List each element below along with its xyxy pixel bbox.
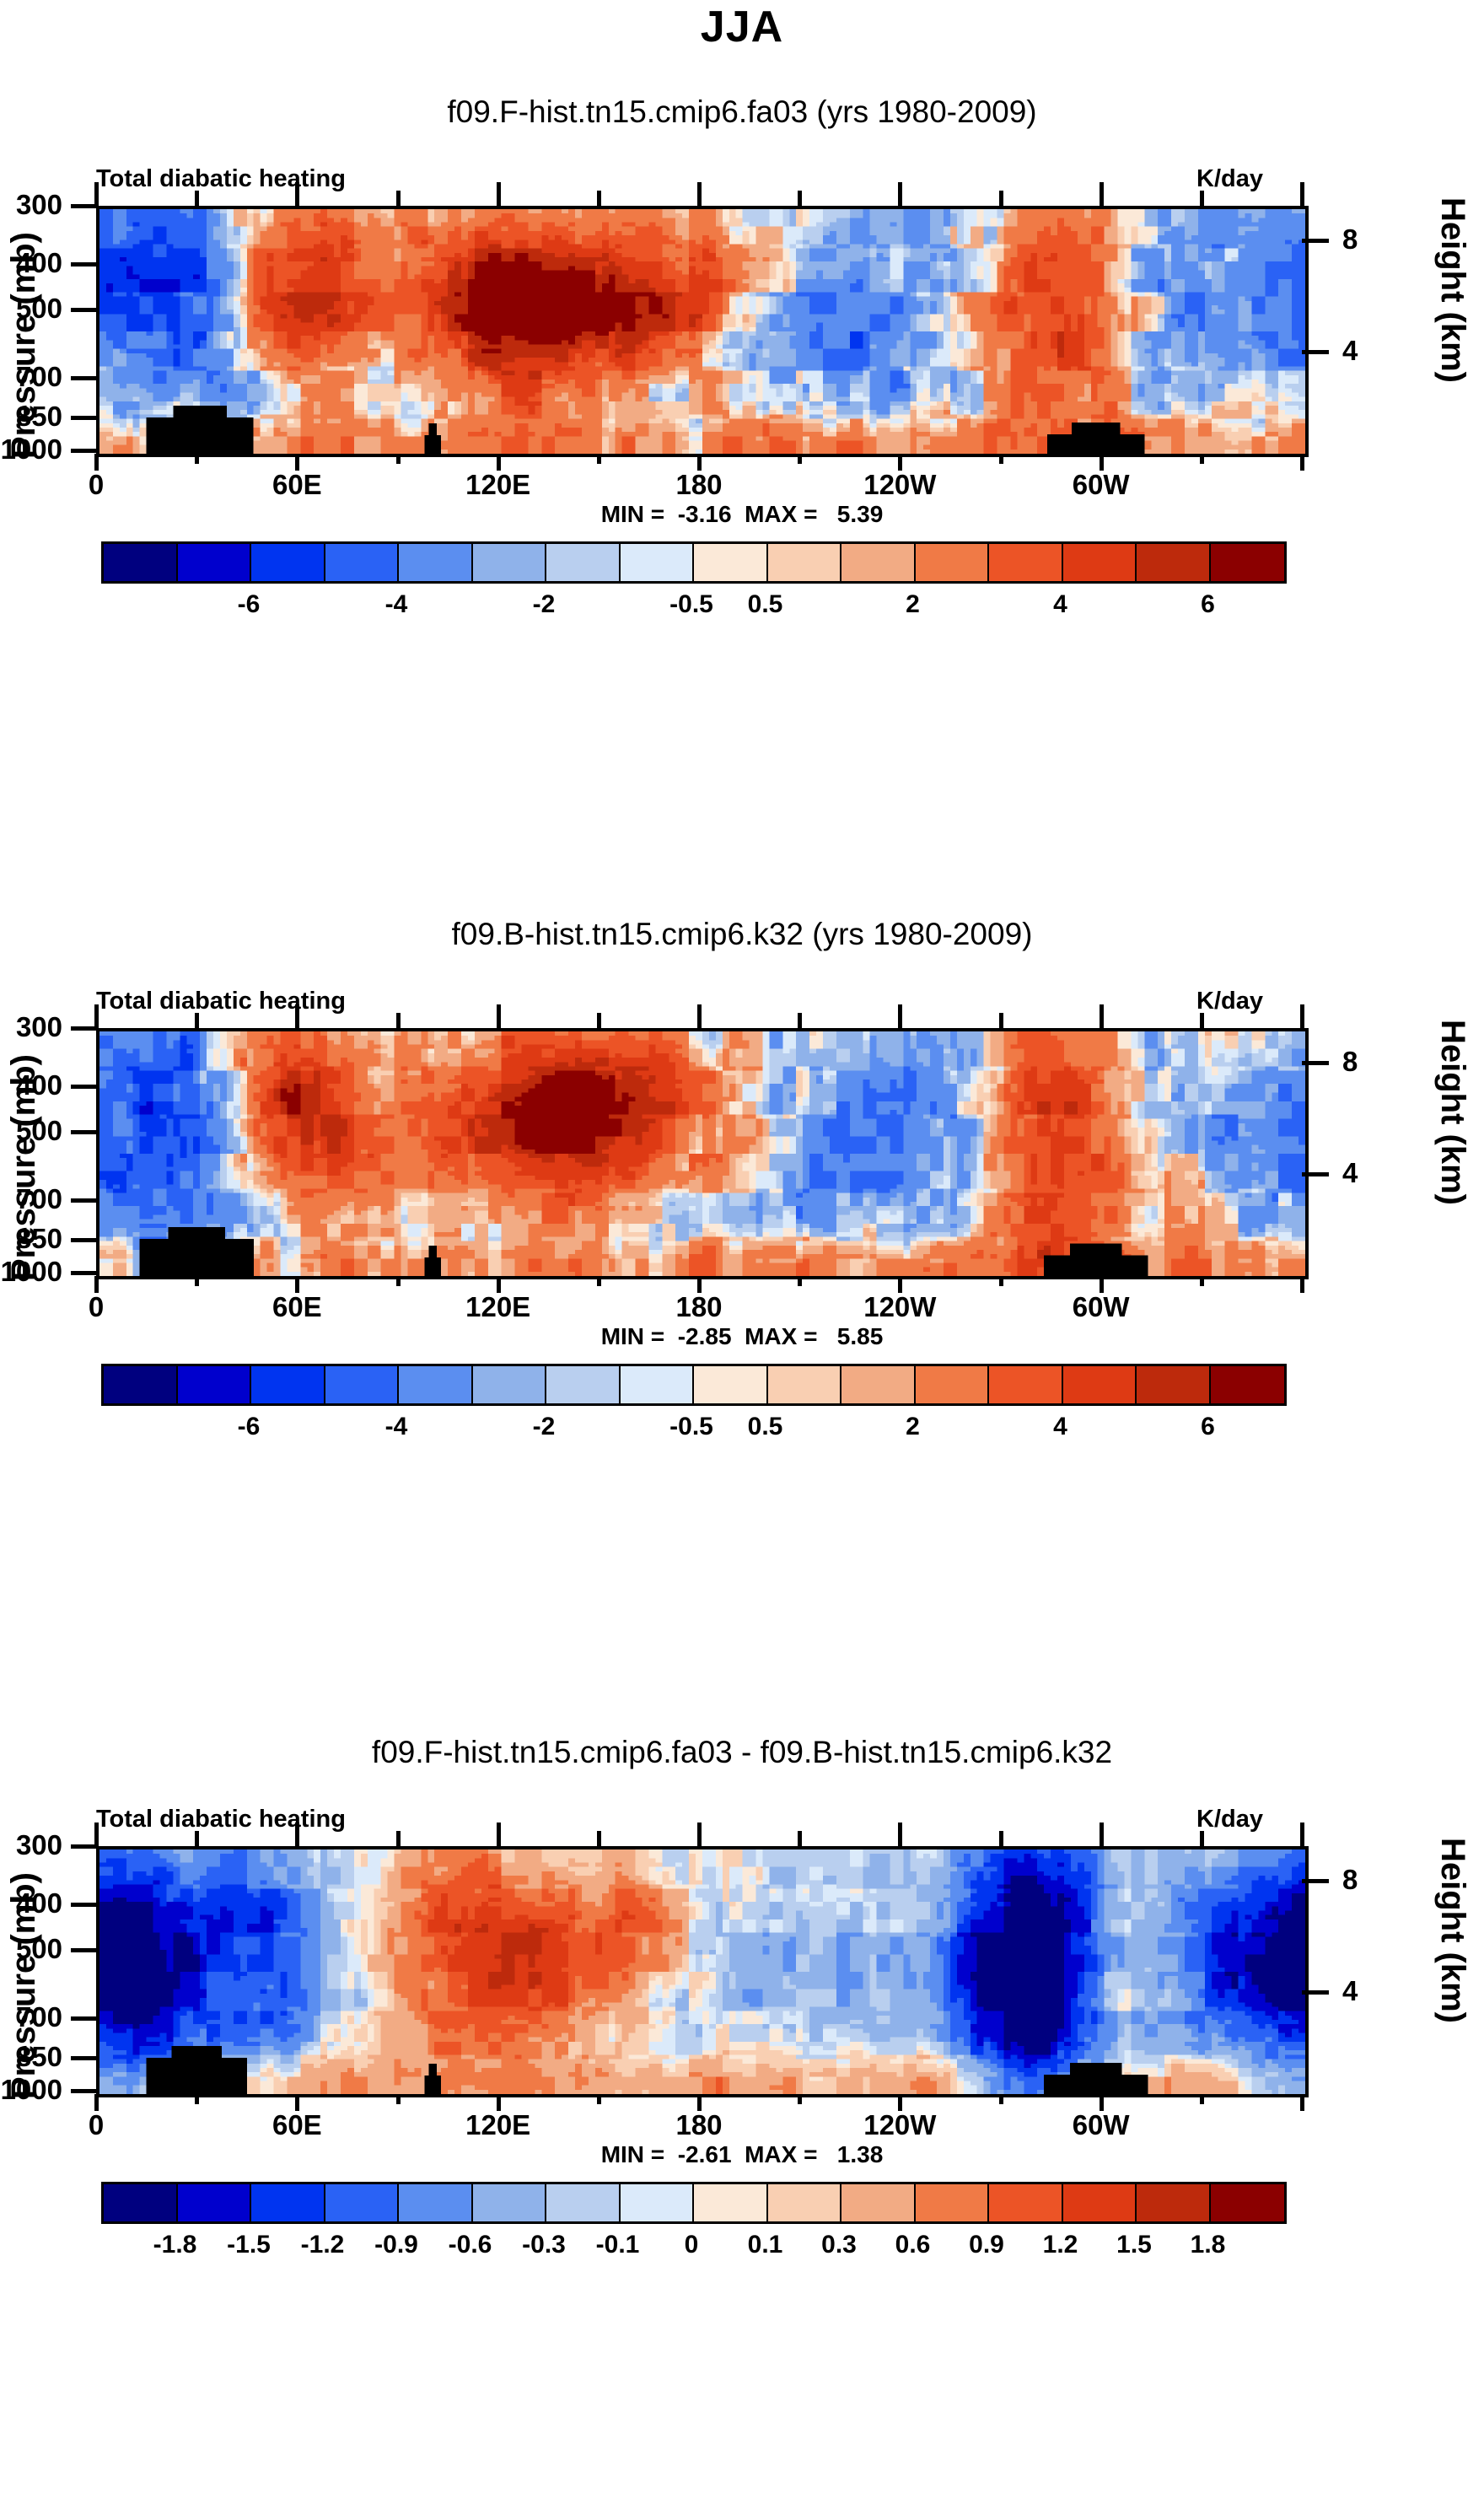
- x-tick-mark: [195, 1831, 199, 1846]
- minmax-annotation: MIN = -2.85 MAX = 5.85: [0, 1323, 1484, 1350]
- x-tick-mark-bottom: [999, 1276, 1003, 1286]
- colorbar-cell: [916, 2184, 990, 2221]
- colorbar-tick-label: -1.5: [227, 2231, 271, 2259]
- x-tick-mark-bottom: [1300, 2094, 1304, 2111]
- colorbar-cells: [101, 541, 1287, 584]
- y-right-tick-mark: [1302, 1172, 1329, 1176]
- y-tick-mark: [71, 449, 98, 453]
- colorbar-tick-label: -0.1: [596, 2231, 640, 2259]
- figure-root: JJA f09.F-hist.tn15.cmip6.fa03 (yrs 1980…: [0, 0, 1484, 2509]
- panel-header-left: Total diabatic heating: [96, 165, 346, 193]
- x-tick-mark-bottom: [798, 1276, 802, 1286]
- x-tick-mark: [295, 1823, 299, 1846]
- colorbar-cell: [325, 544, 400, 581]
- colorbar-labels: -6-4-2-0.50.5246: [101, 1413, 1282, 1451]
- colorbar-cell: [1137, 1366, 1211, 1403]
- x-tick-mark-bottom: [1200, 1276, 1204, 1286]
- x-tick-mark: [1300, 1823, 1304, 1846]
- colorbar-cell: [989, 544, 1063, 581]
- x-tick-label: 180: [675, 2109, 722, 2141]
- x-tick-mark-bottom: [497, 1276, 501, 1293]
- x-tick-mark: [1100, 1823, 1104, 1846]
- colorbar-tick-label: 2: [906, 1413, 920, 1441]
- colorbar-tick-label: -0.9: [374, 2231, 418, 2259]
- y-tick-label: 300: [0, 1011, 62, 1043]
- colorbar-tick-label: 0.3: [821, 2231, 857, 2259]
- x-tick-mark-bottom: [798, 454, 802, 464]
- colorbar-cell: [104, 544, 178, 581]
- x-tick-mark: [396, 1013, 401, 1028]
- colorbar-cell: [841, 544, 916, 581]
- x-tick-label: 0: [89, 1291, 104, 1323]
- x-tick-mark-bottom: [497, 454, 501, 471]
- colorbar-cell: [1211, 544, 1285, 581]
- x-tick-mark: [697, 182, 702, 206]
- x-tick-mark: [396, 191, 401, 206]
- x-tick-mark-bottom: [1100, 2094, 1104, 2111]
- colorbar-cell: [1063, 2184, 1137, 2221]
- x-tick-label: 60E: [272, 1291, 322, 1323]
- colorbar-cell: [694, 1366, 768, 1403]
- colorbar-cell: [989, 2184, 1063, 2221]
- colorbar-cell: [104, 2184, 178, 2221]
- x-tick-mark: [999, 191, 1003, 206]
- panel-3: f09.F-hist.tn15.cmip6.fa03 - f09.B-hist.…: [0, 1640, 1484, 2458]
- colorbar-cell: [1063, 1366, 1137, 1403]
- colorbar-labels: -6-4-2-0.50.5246: [101, 590, 1282, 629]
- x-tick-mark: [898, 182, 902, 206]
- x-tick-mark: [999, 1013, 1003, 1028]
- x-tick-mark-bottom: [396, 1276, 401, 1286]
- colorbar-tick-label: -0.3: [522, 2231, 566, 2259]
- x-tick-mark: [94, 182, 99, 206]
- colorbar-tick-label: 6: [1201, 590, 1215, 619]
- x-tick-label: 60E: [272, 2109, 322, 2141]
- colorbar[interactable]: -6-4-2-0.50.5246: [0, 541, 1484, 634]
- x-tick-mark: [697, 1004, 702, 1028]
- colorbar-cell: [104, 1366, 178, 1403]
- x-tick-mark-bottom: [195, 454, 199, 464]
- y-tick-label: 300: [0, 189, 62, 221]
- y-tick-mark: [71, 262, 98, 267]
- x-tick-mark: [1300, 1004, 1304, 1028]
- panel-2: f09.B-hist.tn15.cmip6.k32 (yrs 1980-2009…: [0, 822, 1484, 1640]
- y-tick-label: 1000: [0, 1256, 62, 1288]
- panel-header-right: K/day: [1196, 988, 1263, 1015]
- y-tick-mark: [71, 1238, 98, 1242]
- y-tick-mark: [71, 1130, 98, 1134]
- y-tick-mark: [71, 416, 98, 420]
- y-tick-label: 850: [0, 2041, 62, 2073]
- colorbar-cell: [1211, 1366, 1285, 1403]
- panel-header-right: K/day: [1196, 165, 1263, 193]
- x-tick-mark-bottom: [497, 2094, 501, 2111]
- x-tick-mark-bottom: [898, 454, 902, 471]
- x-tick-label: 180: [675, 469, 722, 501]
- y-axis-label-right: Height (km): [1433, 197, 1471, 459]
- colorbar-cell: [841, 2184, 916, 2221]
- colorbar-tick-label: -4: [385, 1413, 408, 1441]
- y-tick-label: 1000: [0, 433, 62, 466]
- x-tick-mark-bottom: [396, 454, 401, 464]
- x-tick-mark-bottom: [94, 1276, 99, 1293]
- x-tick-label: 60W: [1073, 1291, 1130, 1323]
- colorbar-tick-label: -0.5: [669, 590, 713, 619]
- colorbar-cell: [399, 2184, 473, 2221]
- x-tick-label: 60W: [1073, 469, 1130, 501]
- y-tick-label: 700: [0, 361, 62, 393]
- x-tick-label: 120W: [863, 1291, 936, 1323]
- colorbar-cell: [473, 544, 547, 581]
- colorbar-cell: [473, 2184, 547, 2221]
- x-tick-label: 60W: [1073, 2109, 1130, 2141]
- x-tick-mark: [295, 1004, 299, 1028]
- x-tick-label: 0: [89, 469, 104, 501]
- x-tick-mark: [295, 182, 299, 206]
- colorbar-cell: [399, 1366, 473, 1403]
- colorbar-tick-label: -6: [238, 590, 261, 619]
- colorbar-cell: [399, 544, 473, 581]
- contour-plot-area[interactable]: [96, 206, 1309, 457]
- panel-1: f09.F-hist.tn15.cmip6.fa03 (yrs 1980-200…: [0, 0, 1484, 818]
- x-tick-mark-bottom: [999, 2094, 1003, 2104]
- y-tick-label: 400: [0, 1069, 62, 1101]
- colorbar-tick-label: -0.5: [669, 1413, 713, 1441]
- colorbar-cell: [178, 544, 252, 581]
- x-tick-mark-bottom: [94, 454, 99, 471]
- minmax-annotation: MIN = -2.61 MAX = 1.38: [0, 2141, 1484, 2168]
- panel-header-left: Total diabatic heating: [96, 1806, 346, 1833]
- x-tick-mark-bottom: [295, 1276, 299, 1293]
- x-tick-mark: [195, 1013, 199, 1028]
- y-right-tick-label: 8: [1342, 223, 1358, 256]
- colorbar-cell: [1137, 544, 1211, 581]
- x-tick-mark: [497, 182, 501, 206]
- colorbar-tick-label: 0: [685, 2231, 699, 2259]
- y-tick-label: 300: [0, 1829, 62, 1861]
- x-tick-mark-bottom: [898, 2094, 902, 2111]
- x-tick-mark: [798, 1013, 802, 1028]
- panel-title: f09.B-hist.tn15.cmip6.k32 (yrs 1980-2009…: [0, 917, 1484, 952]
- colorbar-tick-label: 1.2: [1043, 2231, 1078, 2259]
- x-tick-label: 120E: [465, 469, 530, 501]
- x-tick-mark-bottom: [1100, 454, 1104, 471]
- colorbar[interactable]: -6-4-2-0.50.5246: [0, 1364, 1484, 1456]
- y-tick-mark: [71, 2089, 98, 2093]
- colorbar-cell: [694, 2184, 768, 2221]
- x-tick-label: 0: [89, 2109, 104, 2141]
- y-tick-label: 500: [0, 1933, 62, 1965]
- x-tick-mark-bottom: [1300, 1276, 1304, 1293]
- y-tick-mark: [71, 1085, 98, 1089]
- x-tick-mark-bottom: [798, 2094, 802, 2104]
- colorbar-cell: [768, 544, 842, 581]
- x-tick-label: 180: [675, 1291, 722, 1323]
- colorbar-cell: [916, 1366, 990, 1403]
- colorbar-tick-label: 0.5: [748, 1413, 783, 1441]
- x-tick-mark-bottom: [1300, 454, 1304, 471]
- colorbar-tick-label: -2: [533, 590, 556, 619]
- colorbar-cell: [768, 1366, 842, 1403]
- colorbar-tick-label: 2: [906, 590, 920, 619]
- colorbar-tick-label: -1.2: [301, 2231, 345, 2259]
- colorbar-cell: [546, 544, 621, 581]
- x-tick-mark-bottom: [396, 2094, 401, 2104]
- colorbar-cell: [251, 1366, 325, 1403]
- x-tick-mark-bottom: [898, 1276, 902, 1293]
- colorbar-cell: [473, 1366, 547, 1403]
- x-tick-mark: [1200, 1831, 1204, 1846]
- x-tick-mark-bottom: [195, 1276, 199, 1286]
- y-tick-label: 850: [0, 401, 62, 433]
- panel-title: f09.F-hist.tn15.cmip6.fa03 - f09.B-hist.…: [0, 1735, 1484, 1770]
- y-tick-mark: [71, 308, 98, 312]
- colorbar[interactable]: -1.8-1.5-1.2-0.9-0.6-0.3-0.100.10.30.60.…: [0, 2182, 1484, 2275]
- y-right-tick-label: 4: [1342, 1975, 1358, 2007]
- y-tick-label: 500: [0, 293, 62, 325]
- y-tick-label: 400: [0, 1887, 62, 1919]
- colorbar-cell: [178, 1366, 252, 1403]
- colorbar-cell: [325, 1366, 400, 1403]
- x-tick-mark-bottom: [1200, 2094, 1204, 2104]
- colorbar-cells: [101, 1364, 1287, 1406]
- colorbar-cell: [178, 2184, 252, 2221]
- y-right-tick-mark: [1302, 1990, 1329, 1995]
- x-tick-mark: [1100, 182, 1104, 206]
- colorbar-tick-label: -4: [385, 590, 408, 619]
- y-tick-mark: [71, 2016, 98, 2021]
- x-tick-mark: [1200, 1013, 1204, 1028]
- panel-title: f09.F-hist.tn15.cmip6.fa03 (yrs 1980-200…: [0, 94, 1484, 130]
- contour-plot-area[interactable]: [96, 1028, 1309, 1279]
- colorbar-cell: [546, 1366, 621, 1403]
- x-tick-mark: [597, 191, 601, 206]
- minmax-annotation: MIN = -3.16 MAX = 5.39: [0, 501, 1484, 528]
- colorbar-tick-label: -6: [238, 1413, 261, 1441]
- y-right-tick-mark: [1302, 239, 1329, 243]
- y-tick-label: 700: [0, 2001, 62, 2033]
- colorbar-cell: [251, 2184, 325, 2221]
- panel-header-right: K/day: [1196, 1806, 1263, 1833]
- x-tick-mark: [94, 1004, 99, 1028]
- x-tick-mark: [597, 1013, 601, 1028]
- y-tick-label: 700: [0, 1183, 62, 1215]
- colorbar-cell: [768, 2184, 842, 2221]
- x-tick-mark: [1300, 182, 1304, 206]
- y-tick-label: 850: [0, 1223, 62, 1255]
- x-tick-label: 120E: [465, 1291, 530, 1323]
- colorbar-cell: [989, 1366, 1063, 1403]
- y-right-tick-mark: [1302, 1061, 1329, 1065]
- x-tick-mark: [94, 1823, 99, 1846]
- x-tick-mark: [1200, 191, 1204, 206]
- colorbar-tick-label: -2: [533, 1413, 556, 1441]
- x-tick-mark: [999, 1831, 1003, 1846]
- x-tick-mark-bottom: [697, 1276, 702, 1293]
- colorbar-tick-label: 0.6: [895, 2231, 931, 2259]
- y-right-tick-mark: [1302, 1879, 1329, 1883]
- y-right-tick-label: 4: [1342, 1157, 1358, 1189]
- colorbar-cell: [841, 1366, 916, 1403]
- x-tick-mark: [497, 1823, 501, 1846]
- x-tick-mark-bottom: [999, 454, 1003, 464]
- x-tick-mark: [898, 1823, 902, 1846]
- y-tick-label: 400: [0, 247, 62, 279]
- x-tick-mark: [798, 1831, 802, 1846]
- x-tick-mark-bottom: [597, 2094, 601, 2104]
- colorbar-cell: [621, 2184, 695, 2221]
- contour-plot-area[interactable]: [96, 1846, 1309, 2097]
- x-tick-label: 120E: [465, 2109, 530, 2141]
- x-tick-mark-bottom: [295, 454, 299, 471]
- x-tick-mark-bottom: [295, 2094, 299, 2111]
- colorbar-cell: [325, 2184, 400, 2221]
- x-tick-label: 120W: [863, 2109, 936, 2141]
- x-tick-mark-bottom: [195, 2094, 199, 2104]
- colorbar-cell: [621, 1366, 695, 1403]
- x-tick-mark: [195, 191, 199, 206]
- x-tick-mark-bottom: [697, 2094, 702, 2111]
- colorbar-tick-label: 0.5: [748, 590, 783, 619]
- x-tick-mark-bottom: [1100, 1276, 1104, 1293]
- x-tick-label: 60E: [272, 469, 322, 501]
- y-tick-mark: [71, 376, 98, 380]
- colorbar-tick-label: 6: [1201, 1413, 1215, 1441]
- x-tick-mark-bottom: [94, 2094, 99, 2111]
- colorbar-tick-label: 4: [1053, 1413, 1067, 1441]
- colorbar-cell: [1211, 2184, 1285, 2221]
- colorbar-cell: [916, 544, 990, 581]
- y-tick-mark: [71, 1903, 98, 1907]
- y-tick-label: 1000: [0, 2074, 62, 2106]
- y-tick-mark: [71, 1271, 98, 1275]
- y-right-tick-label: 8: [1342, 1046, 1358, 1078]
- colorbar-cells: [101, 2182, 1287, 2224]
- colorbar-cell: [546, 2184, 621, 2221]
- colorbar-tick-label: -1.8: [153, 2231, 197, 2259]
- y-tick-label: 500: [0, 1115, 62, 1147]
- y-right-tick-label: 4: [1342, 335, 1358, 367]
- colorbar-tick-label: 0.9: [969, 2231, 1004, 2259]
- colorbar-tick-label: 4: [1053, 590, 1067, 619]
- x-tick-mark: [898, 1004, 902, 1028]
- colorbar-labels: -1.8-1.5-1.2-0.9-0.6-0.3-0.100.10.30.60.…: [101, 2231, 1282, 2269]
- y-tick-mark: [71, 1198, 98, 1203]
- y-tick-mark: [71, 2056, 98, 2060]
- panel-header-left: Total diabatic heating: [96, 988, 346, 1015]
- y-right-tick-label: 8: [1342, 1864, 1358, 1896]
- y-axis-label-right: Height (km): [1433, 1020, 1471, 1281]
- colorbar-tick-label: 1.8: [1191, 2231, 1226, 2259]
- colorbar-cell: [1063, 544, 1137, 581]
- x-tick-mark: [396, 1831, 401, 1846]
- colorbar-tick-label: -0.6: [449, 2231, 492, 2259]
- y-axis-label-right: Height (km): [1433, 1838, 1471, 2099]
- x-tick-mark-bottom: [597, 1276, 601, 1286]
- colorbar-cell: [251, 544, 325, 581]
- y-tick-mark: [71, 1948, 98, 1952]
- x-tick-mark-bottom: [697, 454, 702, 471]
- x-tick-mark: [697, 1823, 702, 1846]
- colorbar-tick-label: 0.1: [748, 2231, 783, 2259]
- colorbar-tick-label: 1.5: [1116, 2231, 1152, 2259]
- x-tick-mark-bottom: [597, 454, 601, 464]
- x-tick-mark: [1100, 1004, 1104, 1028]
- x-tick-mark: [497, 1004, 501, 1028]
- colorbar-cell: [1137, 2184, 1211, 2221]
- colorbar-cell: [694, 544, 768, 581]
- x-tick-mark-bottom: [1200, 454, 1204, 464]
- x-tick-mark: [597, 1831, 601, 1846]
- x-tick-label: 120W: [863, 469, 936, 501]
- colorbar-cell: [621, 544, 695, 581]
- x-tick-mark: [798, 191, 802, 206]
- y-right-tick-mark: [1302, 350, 1329, 354]
